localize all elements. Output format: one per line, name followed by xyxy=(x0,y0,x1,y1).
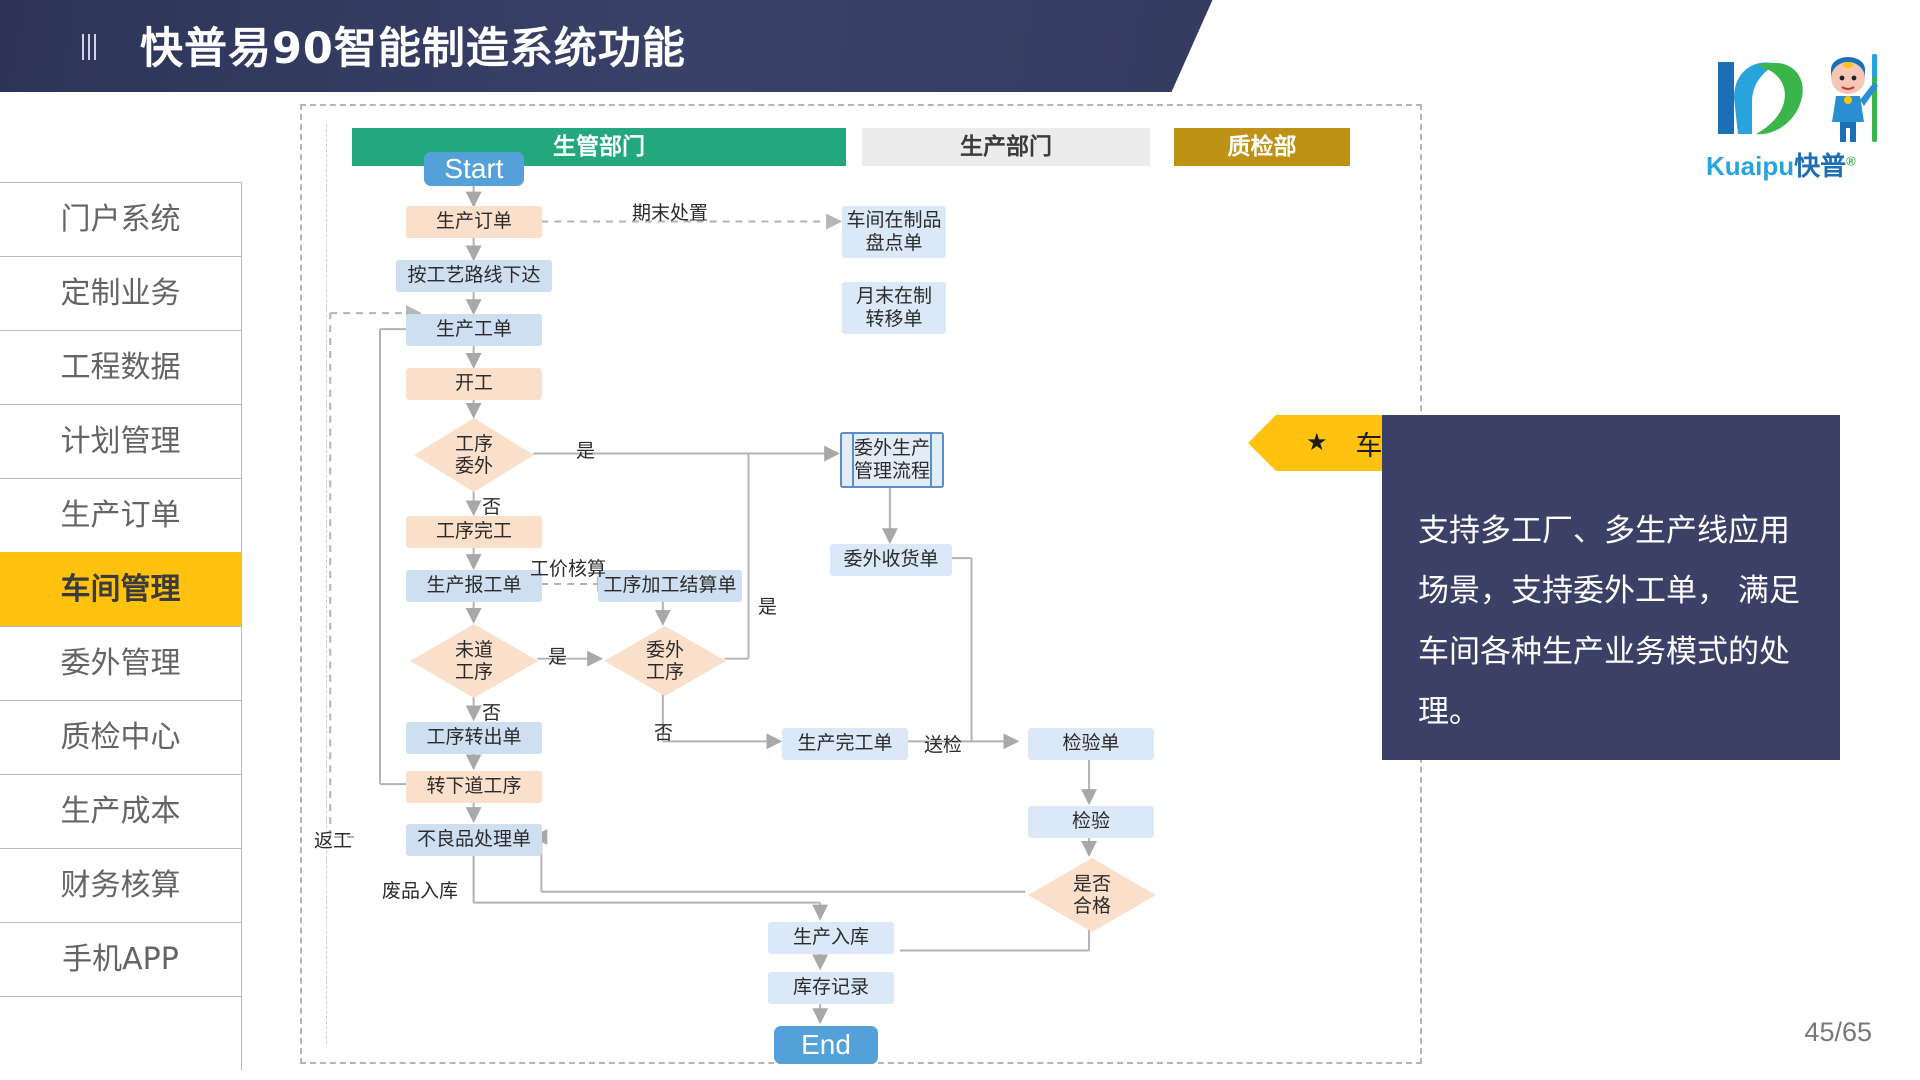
edge-label-outsource-process-no: 否 xyxy=(654,718,673,745)
sidebar-item-order[interactable]: 生产订单 xyxy=(0,478,242,552)
flow-node-process-finish[interactable]: 工序完工 xyxy=(406,516,542,548)
sidebar-item-quality[interactable]: 质检中心 xyxy=(0,700,242,774)
sidebar-item-cost[interactable]: 生产成本 xyxy=(0,774,242,848)
logo-text-en: Kuaipu xyxy=(1706,151,1794,181)
edge-label-last-process-no: 否 xyxy=(482,698,501,725)
flow-node-process-settlement[interactable]: 工序加工结算单 xyxy=(598,570,742,602)
flow-node-start-work[interactable]: 开工 xyxy=(406,368,542,400)
sidebar-nav: 门户系统 定制业务 工程数据 计划管理 生产订单 车间管理 委外管理 质检中心 … xyxy=(0,182,242,1070)
flow-decision-process-outsource-label: 工序 委外 xyxy=(455,433,493,478)
flowchart-canvas: 生管部门 生产部门 质检部 Start 生产订单 按工艺路线下达 生产工单 开工… xyxy=(300,104,1422,1064)
logo-trademark: ® xyxy=(1846,153,1856,168)
flow-node-wip-inventory-sheet[interactable]: 车间在制品 盘点单 xyxy=(842,206,946,258)
flow-node-month-end-transfer[interactable]: 月末在制 转移单 xyxy=(842,282,946,334)
page-number: 45/65 xyxy=(1804,1017,1872,1048)
sidebar-item-portal[interactable]: 门户系统 xyxy=(0,182,242,256)
page-title: 快普易90智能制造系统功能 xyxy=(140,14,686,76)
flow-decision-outsource-process-label: 委外 工序 xyxy=(646,639,684,684)
edge-label-outsource-process-yes: 是 xyxy=(758,592,777,619)
flow-node-inspection-order[interactable]: 检验单 xyxy=(1028,728,1154,760)
flow-decision-last-process-label: 未道 工序 xyxy=(455,639,493,684)
flow-node-work-order[interactable]: 生产工单 xyxy=(406,314,542,346)
flow-node-process-transfer-out[interactable]: 工序转出单 xyxy=(406,722,542,754)
flow-node-inspection[interactable]: 检验 xyxy=(1028,806,1154,838)
flow-node-stock-record[interactable]: 库存记录 xyxy=(768,972,894,1004)
flow-node-defect-handling[interactable]: 不良品处理单 xyxy=(406,824,542,856)
menu-bars-icon[interactable] xyxy=(72,30,106,64)
brand-logo: Kuaipu快普® xyxy=(1700,52,1920,182)
flow-node-release-by-route[interactable]: 按工艺路线下达 xyxy=(396,260,552,292)
logo-text-cn: 快普 xyxy=(1794,151,1846,181)
sidebar-item-engineering[interactable]: 工程数据 xyxy=(0,330,242,404)
flow-decision-process-outsource[interactable]: 工序 委外 xyxy=(414,418,534,492)
flow-decision-last-process[interactable]: 未道 工序 xyxy=(410,624,538,698)
sidebar-item-workshop[interactable]: 车间管理 xyxy=(0,552,242,626)
flow-node-outsource-flow[interactable]: 委外生产 管理流程 xyxy=(840,432,944,488)
edge-label-send-inspect: 送检 xyxy=(924,730,962,757)
flow-node-outsource-receipt[interactable]: 委外收货单 xyxy=(830,544,952,576)
edge-label-period-end: 期末处置 xyxy=(632,198,708,225)
edge-label-scrap-instock: 废品入库 xyxy=(382,876,458,903)
callout-body: 支持多工厂、多生产线应用场景，支持委外工单， 满足车间各种生产业务模式的处理。 xyxy=(1382,415,1840,760)
edge-label-rework: 返工 xyxy=(314,826,352,853)
sidebar-item-planning[interactable]: 计划管理 xyxy=(0,404,242,478)
edge-label-last-process-yes: 是 xyxy=(548,642,567,669)
page-header: 快普易90智能制造系统功能 xyxy=(0,0,1250,92)
flow-node-end[interactable]: End xyxy=(774,1026,878,1064)
sidebar-item-empty xyxy=(0,996,242,1070)
kuaipu-logo-icon xyxy=(1700,52,1920,152)
lane-header-quality-dept: 质检部 xyxy=(1174,128,1350,166)
flow-node-production-order[interactable]: 生产订单 xyxy=(406,206,542,238)
edge-label-labor-cost: 工价核算 xyxy=(530,554,606,581)
flow-node-production-instock[interactable]: 生产入库 xyxy=(768,922,894,954)
callout-description: 支持多工厂、多生产线应用场景，支持委外工单， 满足车间各种生产业务模式的处理。 xyxy=(1418,501,1808,743)
sidebar-item-mobile-app[interactable]: 手机APP xyxy=(0,922,242,996)
edge-label-outsource-yes: 是 xyxy=(576,436,595,463)
flow-decision-is-qualified[interactable]: 是否 合格 xyxy=(1028,858,1156,932)
star-icon: ★ xyxy=(1306,431,1328,455)
logo-wordmark: Kuaipu快普® xyxy=(1706,146,1856,183)
flow-node-start[interactable]: Start xyxy=(424,152,524,186)
flow-node-production-finish-order[interactable]: 生产完工单 xyxy=(782,728,908,760)
flow-decision-outsource-process[interactable]: 委外 工序 xyxy=(604,626,726,696)
sidebar-item-finance[interactable]: 财务核算 xyxy=(0,848,242,922)
sidebar-item-custom[interactable]: 定制业务 xyxy=(0,256,242,330)
sidebar-item-outsource[interactable]: 委外管理 xyxy=(0,626,242,700)
lane-header-production-dept: 生产部门 xyxy=(862,128,1150,166)
flow-node-transfer-next[interactable]: 转下道工序 xyxy=(406,771,542,803)
edge-label-outsource-no: 否 xyxy=(482,492,501,519)
flow-node-report-work-order[interactable]: 生产报工单 xyxy=(406,570,542,602)
flow-decision-is-qualified-label: 是否 合格 xyxy=(1073,873,1111,918)
